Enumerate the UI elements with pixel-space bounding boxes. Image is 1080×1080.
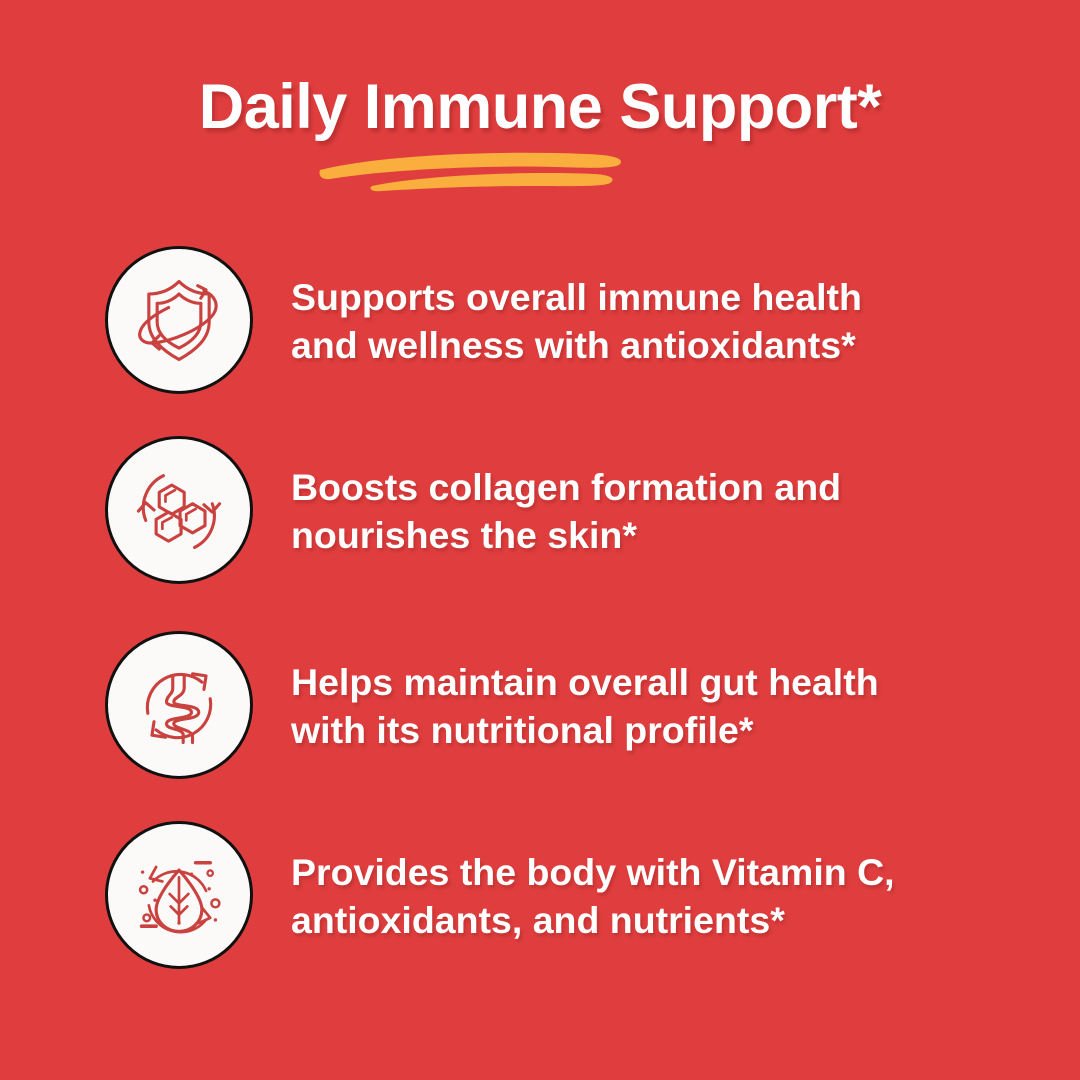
shield-rotation-icon (127, 268, 231, 372)
feature-row: Boosts collagen formation and nourishes … (0, 436, 1080, 586)
feature-text-line: Helps maintain overall gut health (291, 658, 991, 706)
feature-icon-badge (105, 436, 253, 584)
feature-row: Provides the body with Vitamin C, antiox… (0, 821, 1080, 971)
feature-text-line: and wellness with antioxidants* (291, 321, 991, 369)
underline-swoosh-icon (316, 148, 628, 192)
feature-icon-badge (105, 246, 253, 394)
feature-icon-badge (105, 821, 253, 969)
feature-text: Provides the body with Vitamin C, antiox… (291, 848, 991, 944)
feature-text-line: with its nutritional profile* (291, 706, 991, 754)
gut-health-icon (127, 653, 231, 757)
feature-text-line: Supports overall immune health (291, 273, 991, 321)
feature-text-line: antioxidants, and nutrients* (291, 896, 991, 944)
collagen-hexagons-icon (127, 458, 231, 562)
feature-text: Helps maintain overall gut health with i… (291, 658, 991, 754)
feature-row: Helps maintain overall gut health with i… (0, 631, 1080, 781)
feature-text-line: nourishes the skin* (291, 511, 991, 559)
feature-text-line: Boosts collagen formation and (291, 463, 991, 511)
feature-text: Boosts collagen formation and nourishes … (291, 463, 991, 559)
feature-text-line: Provides the body with Vitamin C, (291, 848, 991, 896)
feature-icon-badge (105, 631, 253, 779)
vitamin-droplet-icon (127, 843, 231, 947)
poster-header: Daily Immune Support* (0, 0, 1080, 205)
feature-row: Supports overall immune health and welln… (0, 246, 1080, 396)
feature-text: Supports overall immune health and welln… (291, 273, 991, 369)
immune-support-poster: Daily Immune Support* Supports overal (0, 0, 1080, 1080)
page-title: Daily Immune Support* (0, 76, 1080, 139)
